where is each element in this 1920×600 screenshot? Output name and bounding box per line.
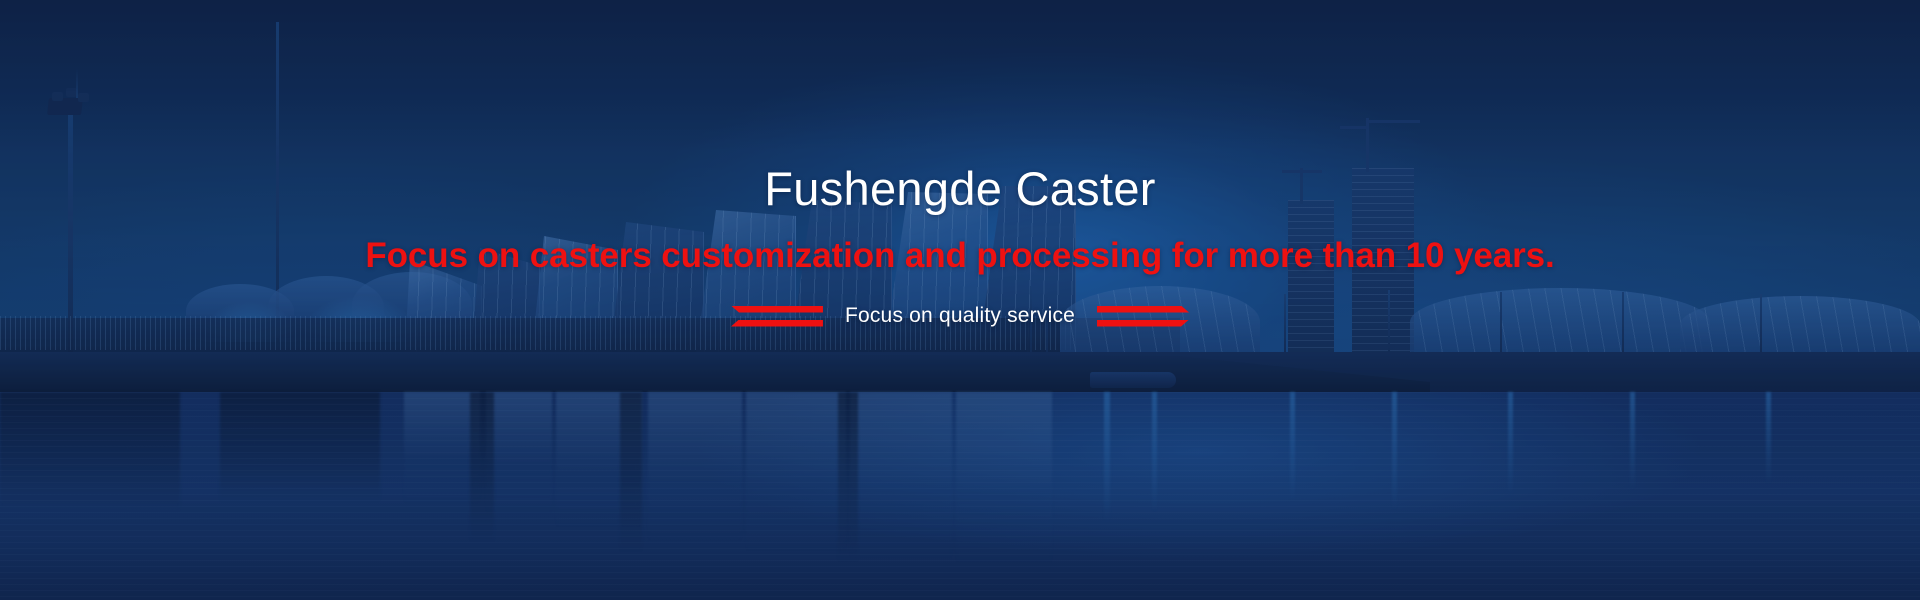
banner-copy: Fushengde Caster Focus on casters custom… [0,0,1920,600]
accent-bar-icon [1097,320,1189,327]
red-accent-bars-right [1097,306,1189,327]
accent-bar-icon [1097,306,1189,313]
banner-headline: Fushengde Caster [764,165,1155,212]
hero-banner: Fushengde Caster Focus on casters custom… [0,0,1920,600]
tagline-row: Focus on quality service [731,304,1189,328]
accent-bar-icon [731,306,823,313]
red-accent-bars-left [731,306,823,327]
banner-subheadline: Focus on casters customization and proce… [365,238,1554,273]
accent-bar-icon [731,320,823,327]
banner-tagline: Focus on quality service [845,304,1075,328]
